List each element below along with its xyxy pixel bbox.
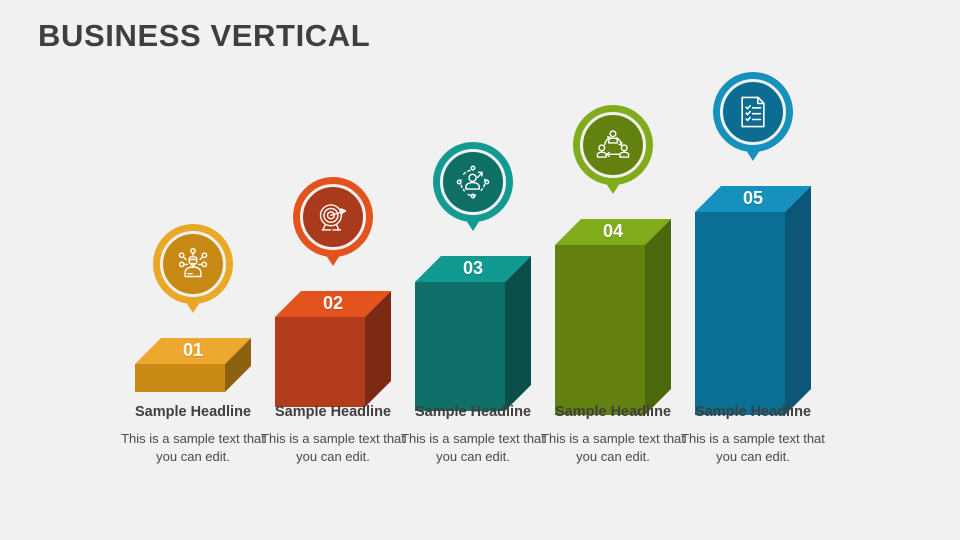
bar-04[interactable]: 04 xyxy=(555,219,671,425)
pin-marker-03[interactable] xyxy=(433,142,513,222)
caption-01: Sample HeadlineThis is a sample text tha… xyxy=(118,403,268,466)
bar-number-label: 02 xyxy=(275,293,391,314)
bar-column-02: 02Sample HeadlineThis is a sample text t… xyxy=(253,0,413,540)
bar-side-face xyxy=(505,256,531,411)
bar-01[interactable]: 01 xyxy=(135,338,251,402)
caption-headline: Sample Headline xyxy=(538,403,688,422)
caption-04: Sample HeadlineThis is a sample text tha… xyxy=(538,403,688,466)
bar-number-label: 03 xyxy=(415,258,531,279)
team-collaboration-icon xyxy=(593,125,633,165)
caption-headline: Sample Headline xyxy=(678,403,828,422)
person-network-icon xyxy=(173,244,213,284)
bar-top-face: 03 xyxy=(415,256,531,282)
caption-02: Sample HeadlineThis is a sample text tha… xyxy=(258,403,408,466)
pin-circle xyxy=(293,177,373,257)
bar-number-label: 04 xyxy=(555,221,671,242)
bar-top-face: 01 xyxy=(135,338,251,364)
bar-02[interactable]: 02 xyxy=(275,291,391,417)
bar-column-01: 01Sample HeadlineThis is a sample text t… xyxy=(113,0,273,540)
slide-canvas: BUSINESS VERTICAL 01Sample HeadlineThis … xyxy=(0,0,960,540)
bar-column-03: 03Sample HeadlineThis is a sample text t… xyxy=(393,0,553,540)
pin-circle xyxy=(713,72,793,152)
caption-03: Sample HeadlineThis is a sample text tha… xyxy=(398,403,548,466)
bar-03[interactable]: 03 xyxy=(415,256,531,421)
bar-side-face xyxy=(785,186,811,415)
bar-number-label: 05 xyxy=(695,188,811,209)
target-dartboard-icon xyxy=(313,197,353,237)
bar-number-label: 01 xyxy=(135,340,251,361)
caption-body: This is a sample text that you can edit. xyxy=(258,430,408,466)
caption-headline: Sample Headline xyxy=(258,403,408,422)
caption-body: This is a sample text that you can edit. xyxy=(538,430,688,466)
bar-front-face xyxy=(695,212,785,415)
bar-column-04: 04Sample HeadlineThis is a sample text t… xyxy=(533,0,693,540)
bar-top-face: 04 xyxy=(555,219,671,245)
bar-top-face: 02 xyxy=(275,291,391,317)
bar-side-face xyxy=(645,219,671,415)
bar-front-face xyxy=(275,317,365,407)
bar-front-face xyxy=(135,364,225,392)
pin-marker-02[interactable] xyxy=(293,177,373,257)
pin-marker-01[interactable] xyxy=(153,224,233,304)
caption-body: This is a sample text that you can edit. xyxy=(398,430,548,466)
pin-circle xyxy=(573,105,653,185)
caption-05: Sample HeadlineThis is a sample text tha… xyxy=(678,403,828,466)
bar-top-face: 05 xyxy=(695,186,811,212)
caption-headline: Sample Headline xyxy=(118,403,268,422)
caption-body: This is a sample text that you can edit. xyxy=(118,430,268,466)
pin-circle xyxy=(153,224,233,304)
person-globe-icon xyxy=(453,162,493,202)
caption-headline: Sample Headline xyxy=(398,403,548,422)
bar-column-05: 05Sample HeadlineThis is a sample text t… xyxy=(673,0,833,540)
pin-marker-04[interactable] xyxy=(573,105,653,185)
bar-front-face xyxy=(555,245,645,415)
bar-front-face xyxy=(415,282,505,411)
pin-circle xyxy=(433,142,513,222)
pin-marker-05[interactable] xyxy=(713,72,793,152)
checklist-document-icon xyxy=(733,92,773,132)
bar-05[interactable]: 05 xyxy=(695,186,811,425)
caption-body: This is a sample text that you can edit. xyxy=(678,430,828,466)
